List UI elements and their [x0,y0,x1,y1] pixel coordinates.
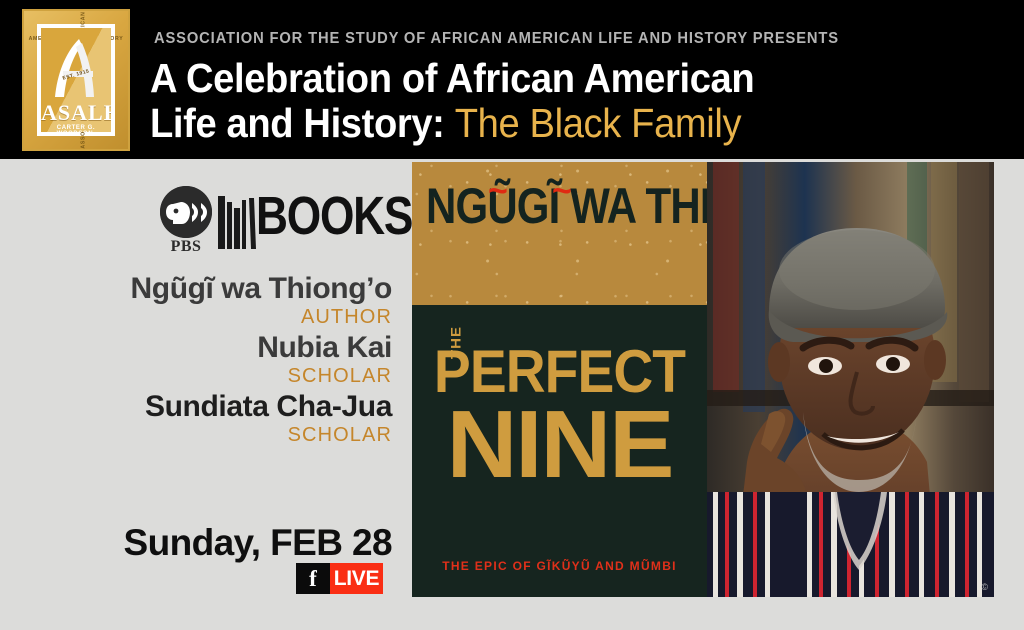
page-title: A Celebration of African American Life a… [150,56,950,146]
asalh-logo-inner-frame: AMERICAN LIFE AND HISTORY THE FOUNDERS O… [37,24,115,136]
headline-theme: The Black Family [455,100,741,146]
cover-subtitle: THE EPIC OF GĨKŨYŨ AND MŨMBI [412,559,707,573]
asalh-founder-line: CARTER G. WOODSON, FOUNDER [41,125,111,132]
list-item: Nubia Kai SCHOLAR [0,331,392,388]
facebook-icon: f [296,563,330,594]
facebook-live-badge[interactable]: f LIVE [296,563,383,594]
asalh-acronym-text: ASALH [41,100,111,125]
asalh-logo-plate: EST. 1915 ASALH® CARTER G. WOODSON, FOUN… [41,28,111,132]
participant-role: SCHOLAR [0,424,392,447]
cover-title-block: THE PERFECT NINE [412,345,707,489]
header-bar: AMERICAN LIFE AND HISTORY THE FOUNDERS O… [0,0,1024,159]
cover-lower-panel: THE PERFECT NINE THE EPIC OF GĨKŨYŨ AND … [412,305,707,597]
pbs-books-logo: PBS BOOKS [160,186,385,258]
list-item: Sundiata Cha-Jua SCHOLAR [0,390,392,447]
author-portrait-photo: © [707,162,994,597]
asalh-acronym: ASALH® [41,102,111,124]
participant-list: Ngũgĩ wa Thiong’o AUTHOR Nubia Kai SCHOL… [0,272,392,449]
participant-name: Ngũgĩ wa Thiong’o [0,272,392,306]
participant-name: Nubia Kai [0,331,392,365]
pbs-head-icon [160,186,212,238]
asalh-logo: AMERICAN LIFE AND HISTORY THE FOUNDERS O… [22,9,130,151]
live-label: LIVE [330,563,383,594]
copyright-watermark: © [981,582,988,592]
book-spines-icon [218,194,256,249]
event-date: Sunday, FEB 28 [0,522,392,564]
books-wordmark: BOOKS [256,189,412,243]
participant-role: AUTHOR [0,306,392,329]
headline-line-1: A Celebration of African American [150,55,754,101]
presenter-eyebrow-text: ASSOCIATION FOR THE STUDY OF AFRICAN AME… [154,30,839,48]
poster-canvas: AMERICAN LIFE AND HISTORY THE FOUNDERS O… [0,0,1024,630]
participant-name: Sundiata Cha-Jua [0,390,392,424]
cover-tilde-mark-i: ~ [552,174,572,208]
cover-title-the: THE [432,326,482,359]
pbs-wordmark: PBS [159,238,213,256]
cover-tilde-mark-u: ~ [488,174,508,208]
book-cover-image: NGŨGĨ WA THIONG’O ~ ~ THE PERFECT NINE T… [412,162,707,597]
cover-title-second: NINE [412,401,707,489]
asalh-arch-monogram-icon [49,37,105,99]
list-item: Ngũgĩ wa Thiong’o AUTHOR [0,272,392,329]
headline-line-2: Life and History: [150,100,445,146]
cover-author-name: NGŨGĨ WA THIONG’O [426,182,654,230]
participant-role: SCHOLAR [0,365,392,388]
